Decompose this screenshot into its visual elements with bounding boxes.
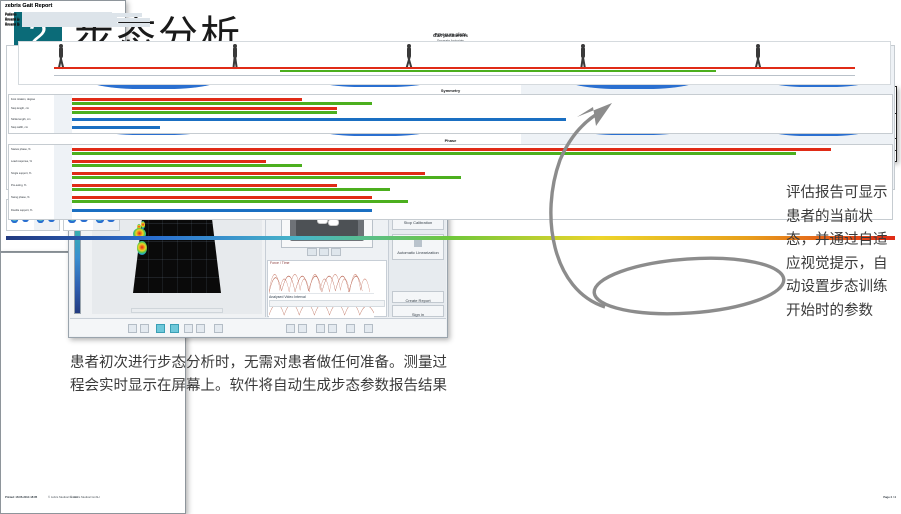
stop-calibration-label: Stop Calibration xyxy=(404,220,432,225)
symmetry-value-column xyxy=(54,95,72,133)
report-meta-patient: Patient: xyxy=(5,13,17,17)
waveform-curve-1 xyxy=(269,266,374,294)
meta-key: Patient: xyxy=(5,13,17,17)
timeline-zoom-in-icon[interactable] xyxy=(286,324,295,333)
phase-bar-r xyxy=(72,176,461,179)
report-footer-page: Page 2 / 4 xyxy=(883,495,896,499)
step-back-icon[interactable] xyxy=(316,324,325,333)
force-time-panel: Force / Time Analysed Video Interval xyxy=(267,260,387,317)
caption-right: 评估报告可显示患者的当前状态，并通过自适应视觉提示，自动设置步态训练开始时的参数 xyxy=(786,182,898,323)
meta-value-bar xyxy=(22,18,150,22)
video-tool-calipers-icon[interactable] xyxy=(307,248,317,256)
sign-in-button[interactable]: Sign in xyxy=(392,305,444,317)
report-title: zebris Gait Report xyxy=(5,3,52,9)
phase-bar-l xyxy=(72,148,831,151)
meta-key: Record A: xyxy=(5,18,20,22)
analysed-interval-label: Analysed Video Interval xyxy=(269,295,306,299)
phase-bar-l xyxy=(72,184,337,187)
symmetry-row-label: Foot rotation, degree xyxy=(11,98,35,101)
phase-row-label: Stance phase, % xyxy=(11,148,31,151)
report-section-title: Gait parameters xyxy=(0,33,901,38)
symmetry-row-label: Stride length, cm xyxy=(11,118,30,121)
symmetry-chart: Foot rotation, degree Step length, cm St… xyxy=(8,94,893,134)
report-footer-printed: Printed: 18.06.2014 18:05 xyxy=(5,495,37,499)
phase-title: Phase xyxy=(0,138,901,143)
phase-row-label: Swing phase, % xyxy=(11,196,30,199)
video-toolbar[interactable] xyxy=(307,248,347,256)
meta-value-bar xyxy=(22,13,142,17)
auto-linearization-label: Automatic Linearization xyxy=(397,250,439,255)
report-meta-record-b: Record B: xyxy=(5,23,20,27)
phase-bar-l xyxy=(72,196,372,199)
vector-icon[interactable] xyxy=(196,324,205,333)
phase-bar-total xyxy=(72,209,372,212)
view-2d-icon[interactable] xyxy=(156,324,165,333)
meta-key: Record B: xyxy=(5,23,20,27)
caption-left: 患者初次进行步态分析时，无需对患者做任何准备。测量过程会实时显示在屏幕上。软件将… xyxy=(70,352,460,398)
waveform-row-1[interactable] xyxy=(269,266,374,294)
waveform-axis-1 xyxy=(362,266,374,293)
cycle-axis xyxy=(54,75,855,76)
phase-row-label: Single support, % xyxy=(11,172,31,175)
treadmill-bottom-edge xyxy=(131,308,223,313)
analysed-interval-slider[interactable] xyxy=(269,300,385,307)
phase-bar-r xyxy=(72,152,796,155)
pressure-scale-bar xyxy=(6,236,895,240)
butterfly-icon[interactable] xyxy=(214,324,223,333)
phase-row-label: Double support, % xyxy=(11,209,32,212)
play-icon[interactable] xyxy=(346,324,355,333)
symmetry-bar-l xyxy=(72,107,337,110)
gait-cycle-diagram xyxy=(18,41,891,85)
view-3d-icon[interactable] xyxy=(170,324,179,333)
symmetry-bar-total xyxy=(72,126,160,129)
create-report-label: Create Report xyxy=(405,298,430,303)
symmetry-bar-total xyxy=(72,118,566,121)
symmetry-bar-r xyxy=(72,102,372,105)
sign-in-label: Sign in xyxy=(412,312,424,317)
symmetry-row-label: Step width, cm xyxy=(11,126,28,129)
create-report-button[interactable]: Create Report xyxy=(392,291,444,303)
step-forward-icon[interactable] xyxy=(328,324,337,333)
auto-linearization-icon xyxy=(414,239,422,247)
phase-bar-l xyxy=(72,160,266,163)
highlight-ellipse xyxy=(592,252,785,319)
symmetry-bar-l xyxy=(72,98,302,101)
symmetry-title: Symmetry xyxy=(0,88,901,93)
contour-icon[interactable] xyxy=(184,324,193,333)
phase-value-column xyxy=(54,145,72,219)
patient-shoe-right xyxy=(328,219,339,226)
meta-value-bar xyxy=(22,23,150,27)
zoom-out-icon[interactable] xyxy=(140,324,149,333)
force-time-title: Force / Time xyxy=(270,261,289,265)
zoom-in-icon[interactable] xyxy=(128,324,137,333)
video-tool-overlay-icon[interactable] xyxy=(331,248,341,256)
report-footer-company: © zebris Medical GmbH xyxy=(70,495,100,499)
timeline-zoom-out-icon[interactable] xyxy=(298,324,307,333)
report-meta-record-a: Record A: xyxy=(5,18,20,22)
phase-bar-r xyxy=(72,188,390,191)
cycle-bar-green xyxy=(280,70,716,72)
phase-chart: Stance phase, % Load response, % Single … xyxy=(8,144,893,220)
app-bottom-toolbar xyxy=(70,318,446,336)
phase-row-label: Load response, % xyxy=(11,160,32,163)
video-tool-grid-icon[interactable] xyxy=(319,248,329,256)
loop-icon[interactable] xyxy=(364,324,373,333)
phase-bar-l xyxy=(72,172,425,175)
phase-row-label: Pre-swing, % xyxy=(11,184,26,187)
phase-bar-r xyxy=(72,200,408,203)
symmetry-bar-r xyxy=(72,111,337,114)
phase-bar-r xyxy=(72,164,302,167)
symmetry-row-label: Step length, cm xyxy=(11,107,29,110)
